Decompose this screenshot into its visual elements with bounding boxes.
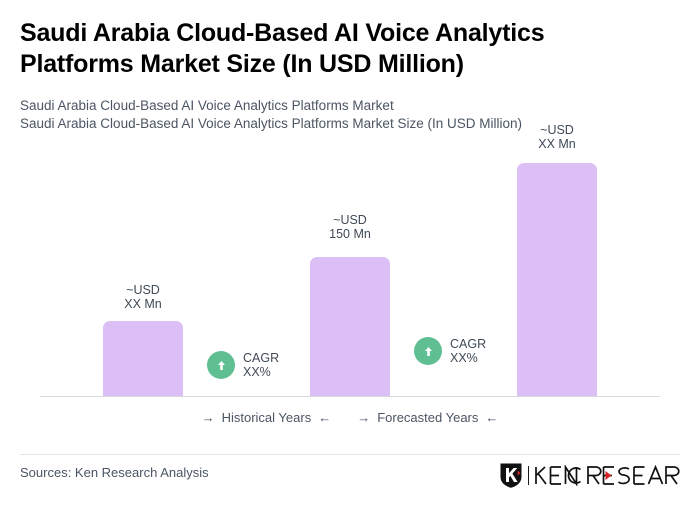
bar-value-label-3: ~USD XX Mn bbox=[517, 123, 597, 151]
bar-value-label-1-line1: ~USD bbox=[126, 283, 160, 297]
bar-value-label-3-line1: ~USD bbox=[540, 123, 574, 137]
arrow-left-icon: ← bbox=[318, 411, 331, 424]
chart-plot-area: ~USD XX Mn CAGR XX% ~USD 150 Mn bbox=[0, 0, 700, 400]
chart-legend: → Historical Years ← → Forecasted Years … bbox=[0, 410, 700, 425]
cagr-annotation-2-text: CAGR XX% bbox=[450, 337, 486, 365]
cagr-annotation-1-line1: CAGR bbox=[243, 351, 279, 365]
bar-3[interactable] bbox=[517, 163, 597, 397]
cagr-annotation-1-line2: XX% bbox=[243, 365, 279, 379]
legend-item-forecasted-years[interactable]: → Forecasted Years ← bbox=[357, 410, 498, 425]
legend-item-historical-years-label: Historical Years bbox=[222, 410, 312, 425]
bar-value-label-2-line2: 150 Mn bbox=[310, 227, 390, 241]
arrow-up-icon bbox=[414, 337, 442, 365]
cagr-annotation-2-line2: XX% bbox=[450, 351, 486, 365]
cagr-annotation-2-line1: CAGR bbox=[450, 337, 486, 351]
ken-research-wordmark bbox=[534, 465, 682, 486]
cagr-annotation-2: CAGR XX% bbox=[414, 337, 486, 365]
legend-item-forecasted-years-label: Forecasted Years bbox=[377, 410, 478, 425]
x-axis-line bbox=[40, 396, 660, 397]
arrow-right-icon: → bbox=[357, 411, 370, 424]
bar-value-label-1: ~USD XX Mn bbox=[103, 283, 183, 311]
bar-2[interactable] bbox=[310, 257, 390, 397]
footer-divider bbox=[20, 454, 680, 455]
logo-separator bbox=[528, 466, 529, 485]
arrow-up-icon bbox=[207, 351, 235, 379]
bar-value-label-3-line2: XX Mn bbox=[517, 137, 597, 151]
cagr-annotation-1-text: CAGR XX% bbox=[243, 351, 279, 379]
legend-item-historical-years[interactable]: → Historical Years ← bbox=[202, 410, 332, 425]
bar-value-label-1-line2: XX Mn bbox=[103, 297, 183, 311]
arrow-right-icon: → bbox=[202, 411, 215, 424]
chart-page: Saudi Arabia Cloud-Based AI Voice Analyt… bbox=[0, 0, 700, 520]
ken-research-shield-icon bbox=[499, 462, 523, 489]
arrow-left-icon: ← bbox=[485, 411, 498, 424]
sources-text: Sources: Ken Research Analysis bbox=[20, 465, 209, 480]
bar-1[interactable] bbox=[103, 321, 183, 397]
bar-value-label-2: ~USD 150 Mn bbox=[310, 213, 390, 241]
bar-value-label-2-line1: ~USD bbox=[333, 213, 367, 227]
ken-research-logo bbox=[499, 462, 682, 489]
cagr-annotation-1: CAGR XX% bbox=[207, 351, 279, 379]
